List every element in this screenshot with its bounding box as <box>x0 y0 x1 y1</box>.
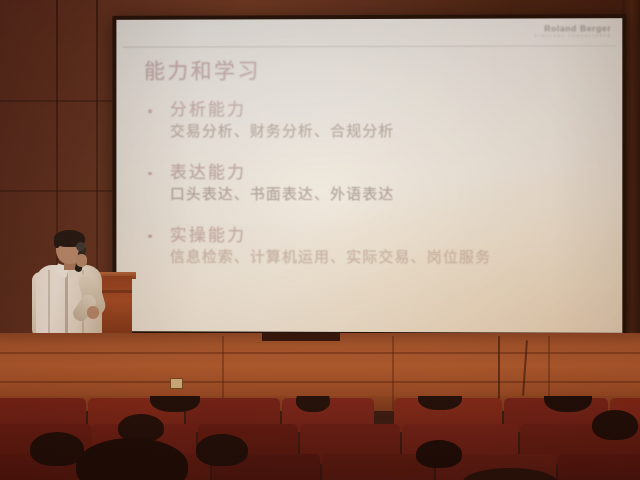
shirt-placket <box>65 270 68 342</box>
projection-screen-frame: Roland Berger STRATEGY CONSULTANTS 能力和学习… <box>112 14 626 336</box>
stage-trim-line <box>0 352 640 354</box>
stage-shadow-recess <box>262 333 340 341</box>
microphone-head <box>76 242 85 251</box>
stage-trim-line <box>0 381 640 383</box>
shirt-fold <box>48 270 50 342</box>
bullet-heading: 实操能力 <box>170 224 610 247</box>
audience-head <box>196 434 248 466</box>
wall-outlet <box>170 378 183 389</box>
bullet-detail: 交易分析、财务分析、合规分析 <box>170 122 610 143</box>
bullet-heading: 表达能力 <box>170 162 610 185</box>
bullet-block: 实操能力 信息检索、计算机运用、实际交易、岗位服务 <box>140 224 610 269</box>
audience-seating <box>0 396 640 480</box>
slide-bullet-list: 分析能力 交易分析、财务分析、合规分析 表达能力 口头表达、书面表达、外语表达 … <box>140 99 610 288</box>
bullet-detail: 信息检索、计算机运用、实际交易、岗位服务 <box>170 248 610 269</box>
bullet-heading: 分析能力 <box>170 99 610 122</box>
logo-tagline: STRATEGY CONSULTANTS <box>534 34 611 38</box>
bullet-detail: 口头表达、书面表达、外语表达 <box>170 185 610 206</box>
roland-berger-logo: Roland Berger STRATEGY CONSULTANTS <box>534 25 611 38</box>
projection-screen: Roland Berger STRATEGY CONSULTANTS 能力和学习… <box>116 18 622 333</box>
presenter-mic-hand <box>76 254 87 267</box>
bullet-point-icon <box>148 172 151 175</box>
wall-panel-seam <box>0 190 112 192</box>
logo-wordmark: Roland Berger <box>534 25 611 33</box>
lecture-hall-photo: Roland Berger STRATEGY CONSULTANTS 能力和学习… <box>0 0 640 480</box>
bullet-block: 分析能力 交易分析、财务分析、合规分析 <box>140 99 610 143</box>
header-divider <box>122 45 616 47</box>
slide-content: Roland Berger STRATEGY CONSULTANTS 能力和学习… <box>116 18 622 333</box>
bullet-point-icon <box>148 109 151 112</box>
wall-panel-seam <box>0 100 112 102</box>
audience-head <box>592 410 638 440</box>
audience-head <box>416 440 462 468</box>
seat <box>558 454 640 480</box>
slide-title: 能力和学习 <box>144 55 261 85</box>
bullet-point-icon <box>148 234 151 237</box>
audience-head <box>296 396 330 412</box>
presenter-hair <box>54 235 60 248</box>
bullet-block: 表达能力 口头表达、书面表达、外语表达 <box>140 162 610 206</box>
presenter-gesturing-hand <box>87 306 99 319</box>
